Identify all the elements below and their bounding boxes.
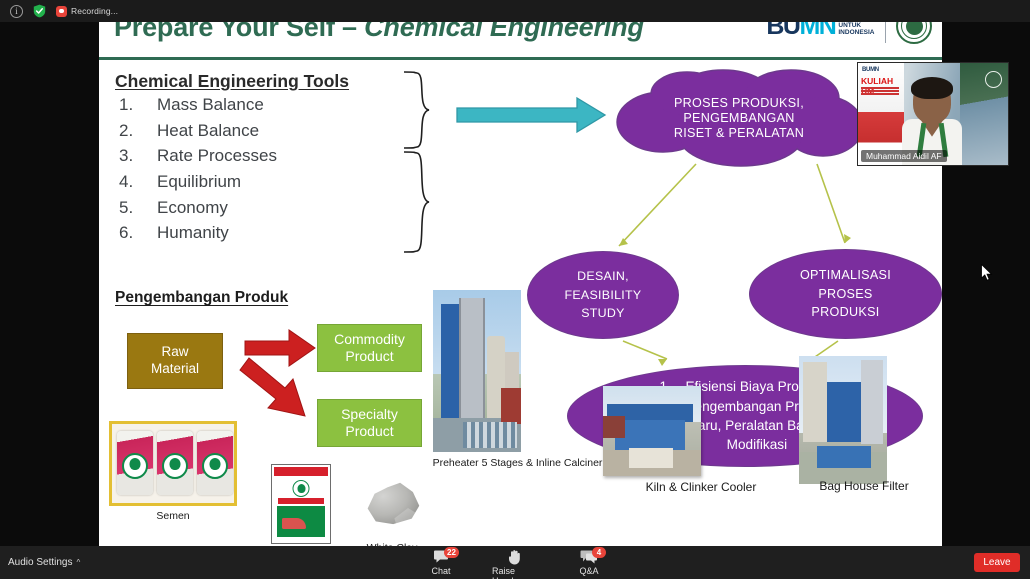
tools-item-label: Rate Processes [157,146,277,166]
cloud-line-1: PROSES PRODUKSI, [674,96,804,110]
semen-photo [109,421,237,506]
recording-label: Recording... [71,6,118,16]
tools-item: 1. Mass Balance [119,95,277,121]
raw-material-box: Raw Material [127,333,223,389]
participant-name-label: Muhammad Aidil AF [861,150,947,162]
semen-caption: Semen [109,510,237,523]
white-clay-photo [357,472,427,538]
commodity-product-box: Commodity Product [317,324,422,372]
tools-item-label: Mass Balance [157,95,264,115]
zoom-meeting-window: i Recording... Prepare Your Self – Chemi… [0,0,1030,579]
tools-item-label: Equilibrium [157,172,241,192]
optimalisasi-line-2: PROSES [800,285,891,304]
tools-item-number: 3. [119,146,157,166]
tools-list: 1. Mass Balance 2. Heat Balance 3. Rate … [119,95,277,249]
tools-item: 3. Rate Processes [119,146,277,172]
bag-house-filter-photo [799,356,887,484]
chevron-up-icon: ^ [77,558,81,567]
meeting-controls: 22 Chat Raise Hand 4 [418,548,612,579]
bag-house-filter-caption: Bag House Filter [789,479,939,494]
teal-process-arrow [457,98,605,132]
tools-item-number: 6. [119,223,157,243]
desain-line-1: DESAIN, [565,267,642,286]
recording-indicator[interactable]: Recording... [56,6,118,17]
chat-button[interactable]: 22 Chat [418,548,464,579]
mouse-cursor-icon [981,264,993,287]
raise-hand-label: Raise Hand [492,566,538,579]
semen-mortar-photo [271,464,331,544]
meeting-bottom-toolbar: Audio Settings ^ 22 Chat Raise [0,546,1030,579]
specialty-line-2: Product [345,423,393,440]
raw-material-line-1: Raw [161,344,188,361]
encryption-shield-icon[interactable] [33,4,46,18]
tools-item: 4. Equilibrium [119,172,277,198]
tools-item-label: Heat Balance [157,121,259,141]
audio-settings-button[interactable]: Audio Settings ^ [8,557,80,568]
commodity-line-1: Commodity [334,331,405,348]
bumn-sub-line2: INDONESIA [838,29,874,36]
commodity-line-2: Product [345,348,393,365]
tools-item-number: 5. [119,198,157,218]
ellipse-optimalisasi-proses-produksi: OPTIMALISASI PROSES PRODUKSI [749,249,942,339]
cloud-line-3: RISET & PERALATAN [674,126,804,140]
qa-button[interactable]: 4 Q&A [566,548,612,579]
specialty-line-1: Specialty [341,406,398,423]
tools-item: 2. Heat Balance [119,121,277,147]
tools-item: 6. Humanity [119,223,277,249]
participant-video-thumbnail[interactable]: BUMN KULIAH UM Muhammad Aidil AF [857,62,1009,166]
cloud-line-2: PENGEMBANGAN [683,111,794,125]
optimalisasi-line-1: OPTIMALISASI [800,266,891,285]
red-arrow-commodity [245,330,315,366]
ellipse-desain-feasibility-study: DESAIN, FEASIBILITY STUDY [527,251,679,339]
optimalisasi-line-3: PRODUKSI [800,303,891,322]
video-background-image [960,63,1008,165]
tools-item-label: Humanity [157,223,229,243]
product-development-heading: Pengembangan Produk [115,289,288,307]
qa-badge: 4 [592,547,606,558]
qa-label: Q&A [579,566,598,576]
shared-slide: Prepare Your Self – Chemical Engineering… [99,0,942,546]
tools-item-number: 2. [119,121,157,141]
preheater-photo [433,290,521,452]
tools-item-label: Economy [157,198,228,218]
tools-item: 5. Economy [119,198,277,224]
slide-body: Chemical Engineering Tools 1. Mass Balan… [99,60,942,546]
background-seal-icon [985,71,1002,88]
red-arrow-specialty [240,358,305,416]
desain-line-3: STUDY [565,304,642,323]
chat-badge: 22 [444,547,459,558]
raise-hand-button[interactable]: Raise Hand [492,548,538,579]
chat-label: Chat [431,566,450,576]
desain-line-2: FEASIBILITY [565,286,642,305]
cloud-proses-produksi: PROSES PRODUKSI, PENGEMBANGAN RISET & PE… [613,64,865,169]
bumn-sub-line1: UNTUK [838,22,874,29]
info-icon[interactable]: i [10,5,23,18]
tools-heading: Chemical Engineering Tools [115,71,349,92]
leave-button[interactable]: Leave [974,553,1020,572]
specialty-product-box: Specialty Product [317,399,422,447]
kiln-clinker-cooler-photo [603,386,701,476]
preheater-caption: Preheater 5 Stages & Inline Calciner [425,457,610,470]
poster-bumn-label: BUMN [862,67,879,73]
meeting-top-bar: i Recording... [0,0,1030,22]
raw-material-line-2: Material [151,361,199,378]
raise-hand-icon [508,548,522,565]
audio-settings-label: Audio Settings [8,557,73,568]
tools-item-number: 1. [119,95,157,115]
recording-dot-icon [56,6,67,17]
tools-item-number: 4. [119,172,157,192]
kiln-caption: Kiln & Clinker Cooler [611,480,791,495]
